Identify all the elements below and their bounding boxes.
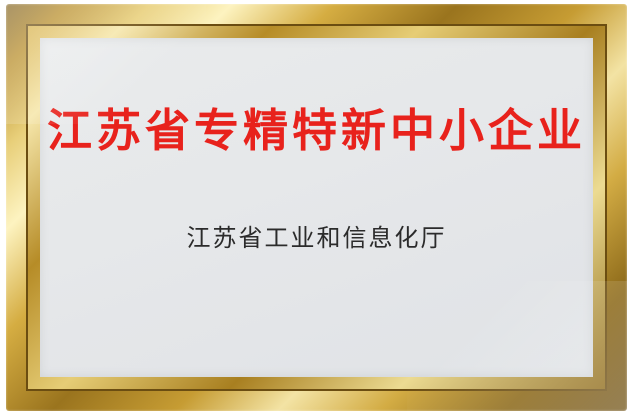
plaque-issuer: 江苏省工业和信息化厅 bbox=[187, 218, 447, 253]
plaque-title: 江苏省专精特新中小企业 bbox=[47, 106, 586, 156]
award-plaque: 江苏省专精特新中小企业 江苏省工业和信息化厅 bbox=[0, 0, 633, 415]
plaque-face: 江苏省专精特新中小企业 江苏省工业和信息化厅 bbox=[40, 38, 593, 377]
